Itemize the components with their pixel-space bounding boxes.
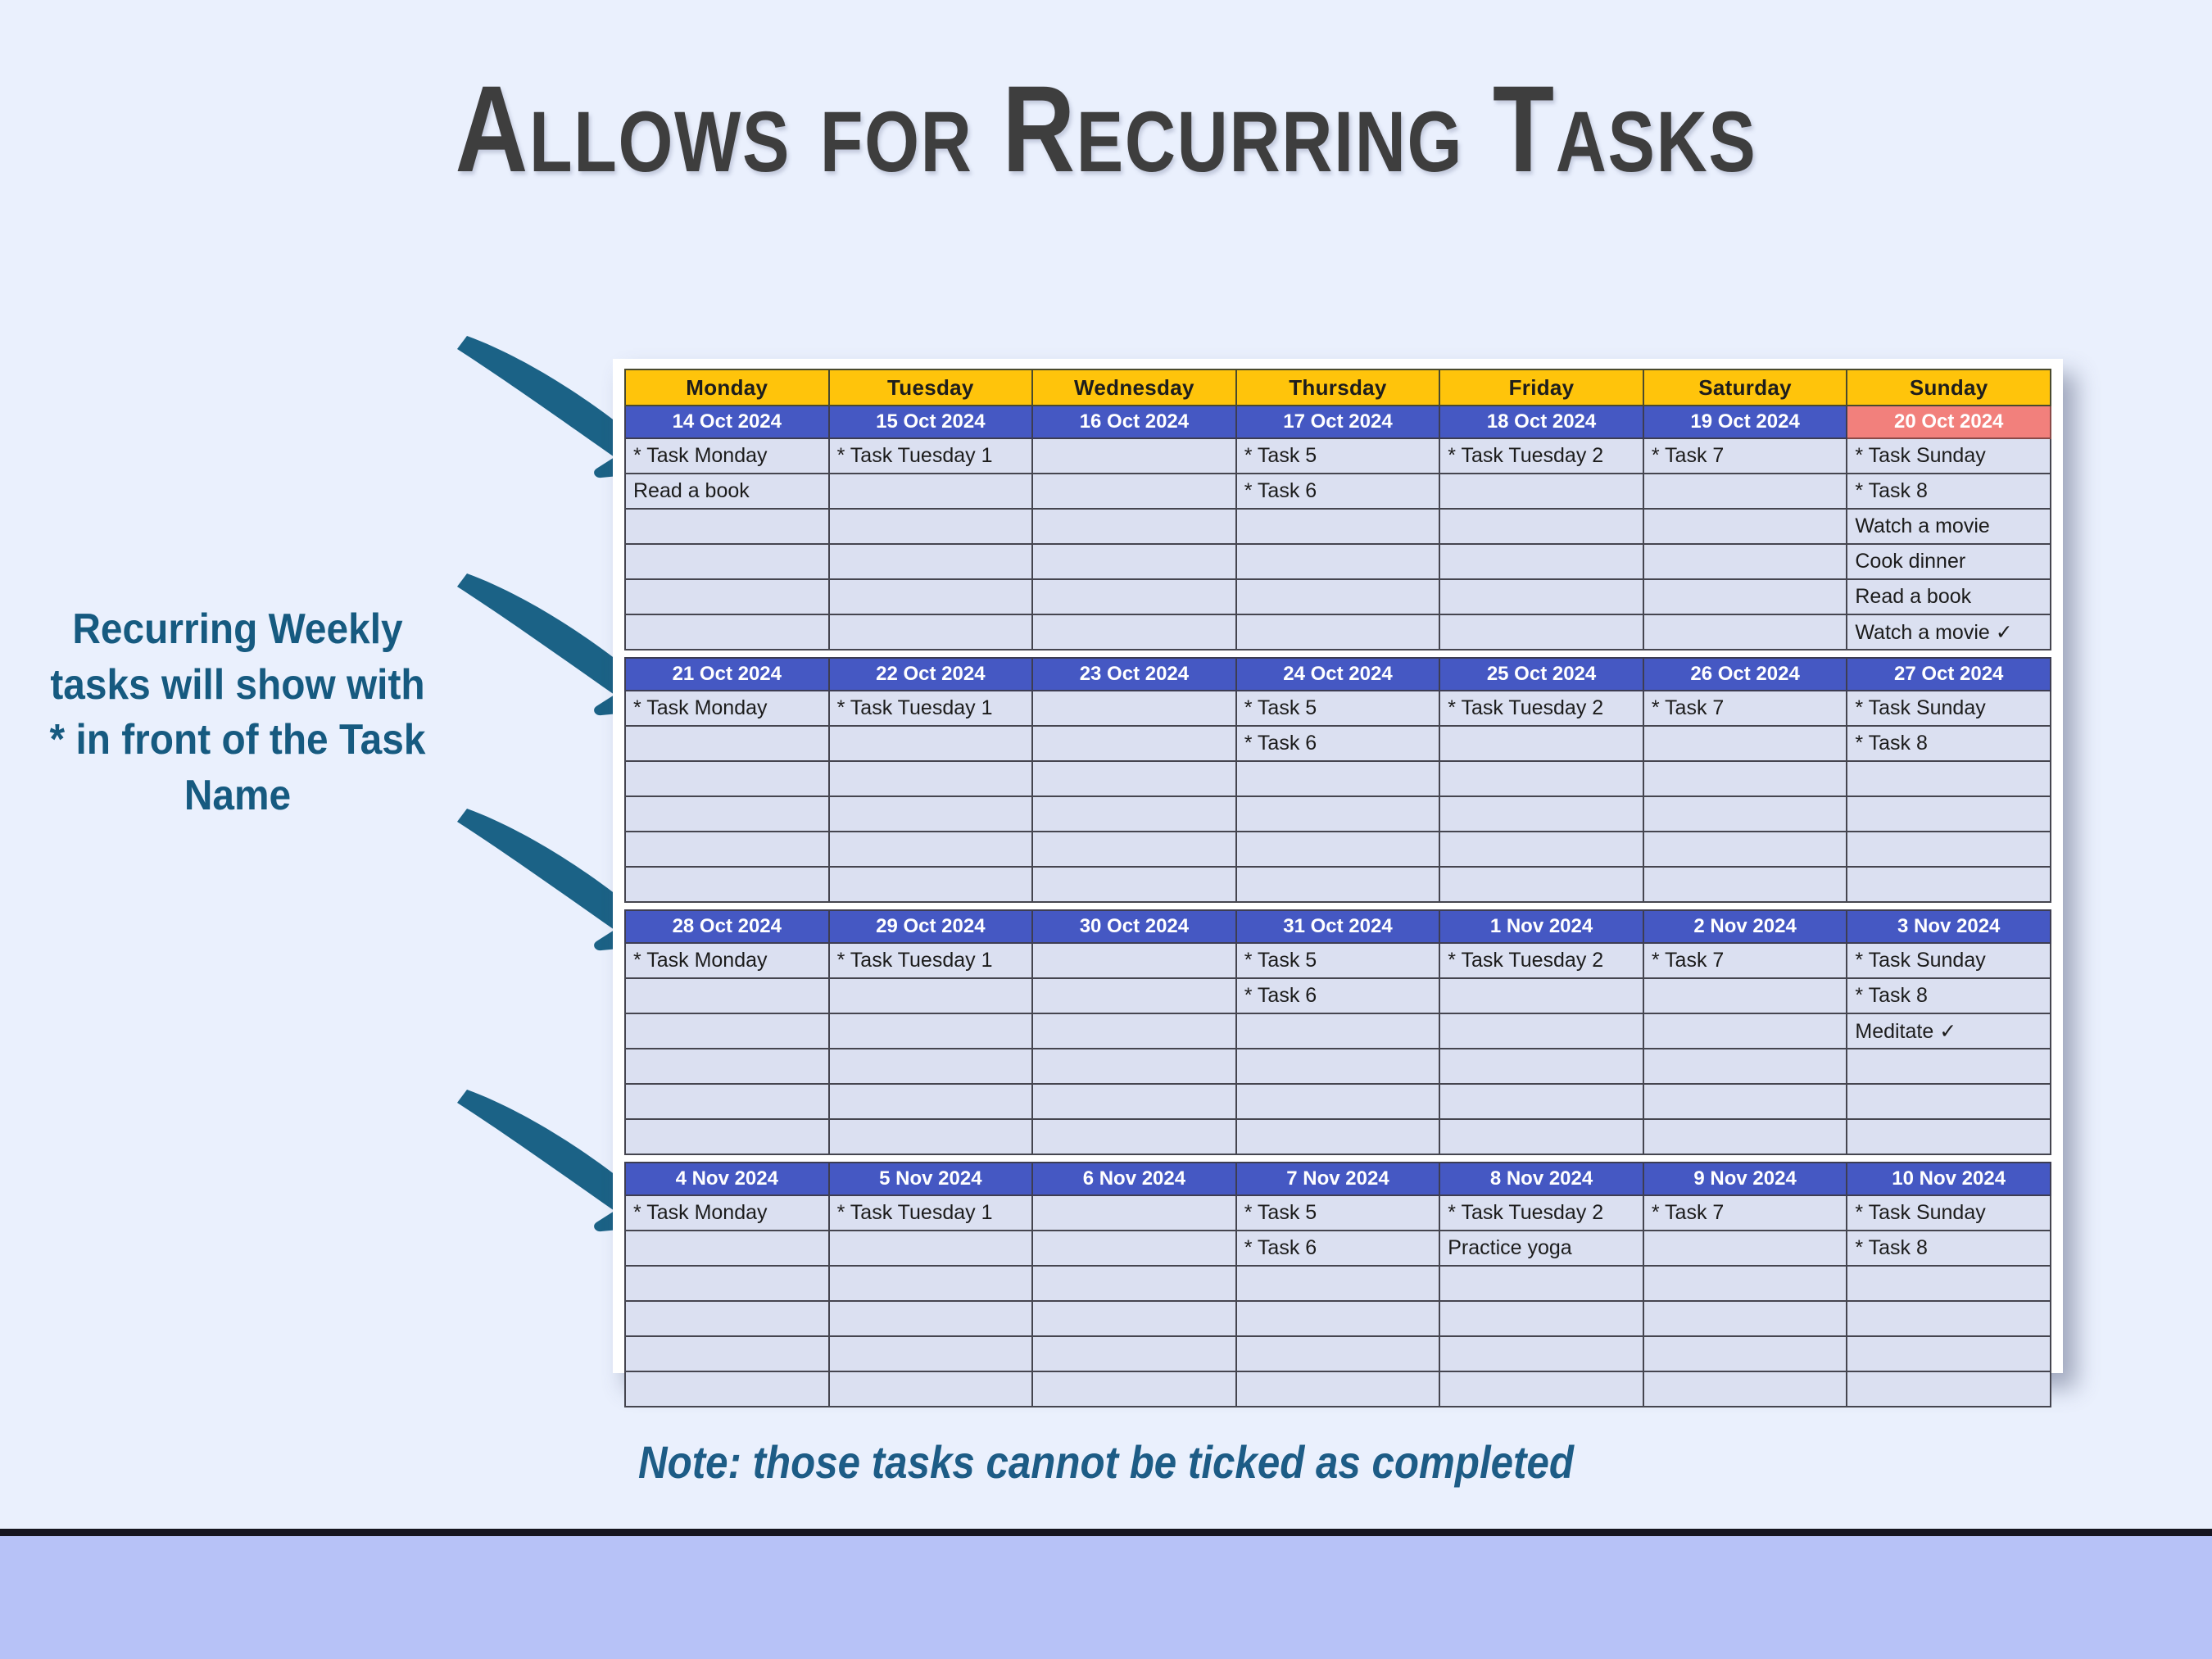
task-cell[interactable]: * Task 5 xyxy=(1236,943,1440,978)
task-cell[interactable] xyxy=(1032,509,1236,544)
task-row: * Task Monday* Task Tuesday 1* Task 5* T… xyxy=(625,1195,2051,1231)
date-cell[interactable]: 26 Oct 2024 xyxy=(1643,658,1847,691)
task-cell[interactable] xyxy=(1032,796,1236,832)
task-cell[interactable] xyxy=(1236,614,1440,650)
date-cell[interactable]: 29 Oct 2024 xyxy=(829,910,1033,943)
task-cell[interactable] xyxy=(625,1119,829,1154)
task-cell[interactable] xyxy=(1439,579,1643,614)
task-cell[interactable]: * Task Tuesday 2 xyxy=(1439,943,1643,978)
task-cell[interactable] xyxy=(1643,1266,1847,1301)
task-cell[interactable] xyxy=(1847,1371,2051,1407)
task-cell[interactable] xyxy=(829,1301,1033,1336)
task-cell[interactable] xyxy=(1439,796,1643,832)
task-cell[interactable] xyxy=(1032,1084,1236,1119)
task-cell[interactable] xyxy=(1439,761,1643,796)
task-cell[interactable] xyxy=(1032,1231,1236,1266)
date-cell[interactable]: 17 Oct 2024 xyxy=(1236,406,1440,438)
task-cell[interactable]: * Task 8 xyxy=(1847,474,2051,509)
task-cell[interactable] xyxy=(1439,1013,1643,1049)
day-header-thursday: Thursday xyxy=(1236,369,1440,406)
task-cell[interactable] xyxy=(829,1013,1033,1049)
task-cell[interactable]: * Task 6 xyxy=(1236,474,1440,509)
task-cell[interactable] xyxy=(829,867,1033,902)
calendar-table: MondayTuesdayWednesdayThursdayFridaySatu… xyxy=(624,369,2051,1407)
task-cell[interactable] xyxy=(1236,832,1440,867)
task-cell[interactable]: * Task Tuesday 1 xyxy=(829,943,1033,978)
task-row: Cook dinner xyxy=(625,544,2051,579)
calendar-header: MondayTuesdayWednesdayThursdayFridaySatu… xyxy=(625,369,2051,406)
task-cell[interactable] xyxy=(1847,1084,2051,1119)
task-cell[interactable] xyxy=(1439,978,1643,1013)
task-row: * Task Monday* Task Tuesday 1* Task 5* T… xyxy=(625,691,2051,726)
task-row xyxy=(625,1301,2051,1336)
task-cell[interactable] xyxy=(829,726,1033,761)
date-cell[interactable]: 14 Oct 2024 xyxy=(625,406,829,438)
task-cell[interactable] xyxy=(1643,867,1847,902)
task-cell[interactable]: * Task 7 xyxy=(1643,1195,1847,1231)
task-cell[interactable]: Meditate ✓ xyxy=(1847,1013,2051,1049)
task-cell[interactable]: * Task 8 xyxy=(1847,726,2051,761)
task-cell[interactable] xyxy=(1439,1049,1643,1084)
date-cell[interactable]: 27 Oct 2024 xyxy=(1847,658,2051,691)
date-cell[interactable]: 3 Nov 2024 xyxy=(1847,910,2051,943)
recurring-task-annotation: Recurring Weekly tasks will show with * … xyxy=(42,602,433,823)
task-row xyxy=(625,1336,2051,1371)
date-cell[interactable]: 4 Nov 2024 xyxy=(625,1163,829,1195)
task-cell[interactable]: * Task 8 xyxy=(1847,978,2051,1013)
task-cell[interactable] xyxy=(1236,1013,1440,1049)
task-cell[interactable] xyxy=(1847,1049,2051,1084)
task-row xyxy=(625,1266,2051,1301)
task-cell[interactable]: Watch a movie xyxy=(1847,509,2051,544)
task-cell[interactable]: * Task 7 xyxy=(1643,438,1847,474)
task-cell[interactable] xyxy=(1032,867,1236,902)
task-cell[interactable] xyxy=(1847,796,2051,832)
task-cell[interactable] xyxy=(1847,1336,2051,1371)
task-cell[interactable] xyxy=(1439,1084,1643,1119)
task-row xyxy=(625,1119,2051,1154)
task-cell[interactable] xyxy=(829,978,1033,1013)
task-cell[interactable]: * Task Monday xyxy=(625,943,829,978)
task-cell[interactable]: * Task 8 xyxy=(1847,1231,2051,1266)
task-cell[interactable] xyxy=(625,1371,829,1407)
task-cell[interactable]: * Task Monday xyxy=(625,1195,829,1231)
date-cell[interactable]: 6 Nov 2024 xyxy=(1032,1163,1236,1195)
task-row: Meditate ✓ xyxy=(625,1013,2051,1049)
task-cell[interactable] xyxy=(1032,1336,1236,1371)
task-cell[interactable]: * Task Monday xyxy=(625,438,829,474)
task-cell[interactable] xyxy=(1439,544,1643,579)
task-row: Watch a movie ✓ xyxy=(625,614,2051,650)
task-cell[interactable]: * Task 7 xyxy=(1643,943,1847,978)
date-cell[interactable]: 25 Oct 2024 xyxy=(1439,658,1643,691)
task-cell[interactable] xyxy=(1032,614,1236,650)
task-cell[interactable] xyxy=(1643,1013,1847,1049)
task-cell[interactable] xyxy=(625,726,829,761)
task-cell[interactable] xyxy=(625,761,829,796)
task-cell[interactable] xyxy=(829,1084,1033,1119)
calendar-card: MondayTuesdayWednesdayThursdayFridaySatu… xyxy=(613,359,2063,1373)
day-name-row: MondayTuesdayWednesdayThursdayFridaySatu… xyxy=(625,369,2051,406)
task-cell[interactable]: * Task 5 xyxy=(1236,691,1440,726)
task-cell[interactable] xyxy=(1236,1084,1440,1119)
task-cell[interactable] xyxy=(625,1336,829,1371)
task-cell[interactable] xyxy=(1236,509,1440,544)
page-title: Allows for Recurring Tasks xyxy=(199,67,2013,190)
task-cell[interactable] xyxy=(625,544,829,579)
task-cell[interactable]: * Task Monday xyxy=(625,691,829,726)
task-cell[interactable]: Cook dinner xyxy=(1847,544,2051,579)
week-spacer-cell xyxy=(625,650,2051,658)
task-cell[interactable]: Read a book xyxy=(625,474,829,509)
task-cell[interactable] xyxy=(829,509,1033,544)
day-header-saturday: Saturday xyxy=(1643,369,1847,406)
task-row: Watch a movie xyxy=(625,509,2051,544)
task-cell[interactable] xyxy=(1643,1336,1847,1371)
task-cell[interactable]: * Task 6 xyxy=(1236,978,1440,1013)
task-cell[interactable] xyxy=(1643,474,1847,509)
task-row: * Task Monday* Task Tuesday 1* Task 5* T… xyxy=(625,438,2051,474)
day-header-monday: Monday xyxy=(625,369,829,406)
task-cell[interactable]: Read a book xyxy=(1847,579,2051,614)
task-cell[interactable] xyxy=(1032,1266,1236,1301)
task-cell[interactable] xyxy=(625,796,829,832)
date-cell[interactable]: 15 Oct 2024 xyxy=(829,406,1033,438)
task-cell[interactable] xyxy=(1236,1119,1440,1154)
task-cell[interactable] xyxy=(1643,614,1847,650)
task-cell[interactable] xyxy=(829,1049,1033,1084)
task-cell[interactable] xyxy=(1032,579,1236,614)
task-cell[interactable]: * Task Sunday xyxy=(1847,1195,2051,1231)
task-cell[interactable]: * Task Sunday xyxy=(1847,691,2051,726)
task-row: Read a book* Task 6* Task 8 xyxy=(625,474,2051,509)
task-cell[interactable] xyxy=(625,978,829,1013)
date-cell[interactable]: 10 Nov 2024 xyxy=(1847,1163,2051,1195)
task-cell[interactable] xyxy=(1643,832,1847,867)
date-cell[interactable]: 21 Oct 2024 xyxy=(625,658,829,691)
date-cell[interactable]: 31 Oct 2024 xyxy=(1236,910,1440,943)
task-cell[interactable] xyxy=(829,832,1033,867)
task-cell[interactable] xyxy=(1236,544,1440,579)
task-cell[interactable]: * Task Sunday xyxy=(1847,943,2051,978)
date-cell[interactable]: 24 Oct 2024 xyxy=(1236,658,1440,691)
task-cell[interactable] xyxy=(625,614,829,650)
task-cell[interactable] xyxy=(1643,1371,1847,1407)
task-cell[interactable] xyxy=(1032,1195,1236,1231)
date-cell[interactable]: 22 Oct 2024 xyxy=(829,658,1033,691)
task-cell[interactable] xyxy=(1439,474,1643,509)
task-cell[interactable] xyxy=(1032,943,1236,978)
date-cell[interactable]: 18 Oct 2024 xyxy=(1439,406,1643,438)
task-cell[interactable]: * Task 6 xyxy=(1236,1231,1440,1266)
task-cell[interactable]: * Task Tuesday 1 xyxy=(829,691,1033,726)
week-spacer-cell xyxy=(625,902,2051,910)
task-cell[interactable] xyxy=(1643,726,1847,761)
task-row xyxy=(625,867,2051,902)
task-row: Read a book xyxy=(625,579,2051,614)
task-cell[interactable] xyxy=(1236,579,1440,614)
week-date-row: 28 Oct 202429 Oct 202430 Oct 202431 Oct … xyxy=(625,910,2051,943)
date-cell[interactable]: 5 Nov 2024 xyxy=(829,1163,1033,1195)
task-row: * Task 6* Task 8 xyxy=(625,726,2051,761)
task-cell[interactable] xyxy=(1032,438,1236,474)
task-cell[interactable] xyxy=(1236,796,1440,832)
task-cell[interactable] xyxy=(1439,614,1643,650)
task-cell[interactable]: Watch a movie ✓ xyxy=(1847,614,2051,650)
date-cell[interactable]: 28 Oct 2024 xyxy=(625,910,829,943)
task-cell[interactable] xyxy=(1643,1301,1847,1336)
task-cell[interactable] xyxy=(829,1119,1033,1154)
task-cell[interactable]: * Task 6 xyxy=(1236,726,1440,761)
task-cell[interactable] xyxy=(1643,796,1847,832)
task-cell[interactable] xyxy=(1847,1266,2051,1301)
task-cell[interactable] xyxy=(1643,1049,1847,1084)
task-cell[interactable] xyxy=(625,579,829,614)
task-cell[interactable] xyxy=(829,796,1033,832)
task-cell[interactable] xyxy=(1032,726,1236,761)
task-cell[interactable] xyxy=(1847,1119,2051,1154)
task-row xyxy=(625,1084,2051,1119)
task-cell[interactable] xyxy=(625,509,829,544)
task-cell[interactable] xyxy=(829,1371,1033,1407)
task-row: * Task 6* Task 8 xyxy=(625,978,2051,1013)
task-row xyxy=(625,1371,2051,1407)
date-cell[interactable]: 8 Nov 2024 xyxy=(1439,1163,1643,1195)
task-cell[interactable] xyxy=(1439,1301,1643,1336)
task-cell[interactable] xyxy=(1236,1371,1440,1407)
task-cell[interactable] xyxy=(1032,1013,1236,1049)
task-cell[interactable] xyxy=(1439,867,1643,902)
date-cell[interactable]: 2 Nov 2024 xyxy=(1643,910,1847,943)
day-header-wednesday: Wednesday xyxy=(1032,369,1236,406)
task-cell[interactable] xyxy=(625,1301,829,1336)
task-cell[interactable] xyxy=(1236,1301,1440,1336)
task-cell[interactable] xyxy=(1032,474,1236,509)
task-cell[interactable] xyxy=(1439,1336,1643,1371)
day-header-friday: Friday xyxy=(1439,369,1643,406)
task-row xyxy=(625,1049,2051,1084)
task-cell[interactable] xyxy=(1032,761,1236,796)
task-cell[interactable] xyxy=(1236,1049,1440,1084)
task-cell[interactable] xyxy=(1847,832,2051,867)
task-cell[interactable] xyxy=(1847,761,2051,796)
task-cell[interactable] xyxy=(829,614,1033,650)
task-cell[interactable] xyxy=(1439,832,1643,867)
task-row: * Task Monday* Task Tuesday 1* Task 5* T… xyxy=(625,943,2051,978)
task-cell[interactable] xyxy=(1032,544,1236,579)
task-cell[interactable] xyxy=(625,832,829,867)
task-cell[interactable] xyxy=(829,1231,1033,1266)
task-cell[interactable] xyxy=(1439,726,1643,761)
week-spacer xyxy=(625,1154,2051,1163)
task-cell[interactable] xyxy=(625,1013,829,1049)
task-row xyxy=(625,796,2051,832)
date-cell[interactable]: 30 Oct 2024 xyxy=(1032,910,1236,943)
task-cell[interactable] xyxy=(1032,978,1236,1013)
task-cell[interactable] xyxy=(1236,1336,1440,1371)
task-cell[interactable]: * Task Tuesday 2 xyxy=(1439,438,1643,474)
task-cell[interactable] xyxy=(625,1084,829,1119)
task-row xyxy=(625,832,2051,867)
task-cell[interactable] xyxy=(1643,1084,1847,1119)
task-cell[interactable]: * Task Tuesday 2 xyxy=(1439,1195,1643,1231)
task-cell[interactable] xyxy=(829,1336,1033,1371)
task-cell[interactable] xyxy=(829,761,1033,796)
task-cell[interactable] xyxy=(1032,691,1236,726)
task-cell[interactable]: * Task 5 xyxy=(1236,438,1440,474)
task-cell[interactable] xyxy=(829,1266,1033,1301)
task-cell[interactable] xyxy=(1439,509,1643,544)
date-cell[interactable]: 9 Nov 2024 xyxy=(1643,1163,1847,1195)
bottom-note: Note: those tasks cannot be ticked as co… xyxy=(133,1435,2079,1489)
task-cell[interactable]: * Task 5 xyxy=(1236,1195,1440,1231)
task-cell[interactable] xyxy=(1032,832,1236,867)
task-cell[interactable] xyxy=(1236,867,1440,902)
task-row: * Task 6Practice yoga* Task 8 xyxy=(625,1231,2051,1266)
week-date-row: 4 Nov 20245 Nov 20246 Nov 20247 Nov 2024… xyxy=(625,1163,2051,1195)
task-cell[interactable] xyxy=(829,474,1033,509)
task-cell[interactable]: * Task 7 xyxy=(1643,691,1847,726)
date-cell[interactable]: 16 Oct 2024 xyxy=(1032,406,1236,438)
task-cell[interactable] xyxy=(1643,1119,1847,1154)
date-cell[interactable]: 7 Nov 2024 xyxy=(1236,1163,1440,1195)
week-spacer xyxy=(625,902,2051,910)
task-cell[interactable] xyxy=(1236,1266,1440,1301)
task-cell[interactable] xyxy=(1643,509,1847,544)
task-cell[interactable] xyxy=(1643,579,1847,614)
date-cell[interactable]: 1 Nov 2024 xyxy=(1439,910,1643,943)
task-cell[interactable] xyxy=(625,1231,829,1266)
date-cell[interactable]: 19 Oct 2024 xyxy=(1643,406,1847,438)
task-row xyxy=(625,761,2051,796)
calendar-body: 14 Oct 202415 Oct 202416 Oct 202417 Oct … xyxy=(625,406,2051,1407)
day-header-sunday: Sunday xyxy=(1847,369,2051,406)
bottom-divider xyxy=(0,1529,2212,1536)
task-cell[interactable] xyxy=(1439,1266,1643,1301)
task-cell[interactable] xyxy=(1643,761,1847,796)
date-cell-today[interactable]: 20 Oct 2024 xyxy=(1847,406,2051,438)
task-cell[interactable] xyxy=(625,867,829,902)
task-cell[interactable] xyxy=(1439,1119,1643,1154)
date-cell[interactable]: 23 Oct 2024 xyxy=(1032,658,1236,691)
week-spacer xyxy=(625,650,2051,658)
task-cell[interactable]: * Task Tuesday 1 xyxy=(829,1195,1033,1231)
task-cell[interactable] xyxy=(1236,761,1440,796)
task-cell[interactable]: * Task Tuesday 1 xyxy=(829,438,1033,474)
task-cell[interactable] xyxy=(1032,1119,1236,1154)
task-cell[interactable] xyxy=(1847,1301,2051,1336)
task-cell[interactable] xyxy=(1643,1231,1847,1266)
task-cell[interactable] xyxy=(1032,1371,1236,1407)
task-cell[interactable] xyxy=(1032,1301,1236,1336)
task-cell[interactable]: * Task Sunday xyxy=(1847,438,2051,474)
task-cell[interactable] xyxy=(1032,1049,1236,1084)
task-cell[interactable] xyxy=(1643,544,1847,579)
task-cell[interactable] xyxy=(625,1049,829,1084)
task-cell[interactable]: * Task Tuesday 2 xyxy=(1439,691,1643,726)
week-spacer-cell xyxy=(625,1154,2051,1163)
task-cell[interactable]: Practice yoga xyxy=(1439,1231,1643,1266)
task-cell[interactable] xyxy=(829,544,1033,579)
task-cell[interactable] xyxy=(829,579,1033,614)
day-header-tuesday: Tuesday xyxy=(829,369,1033,406)
task-cell[interactable] xyxy=(1439,1371,1643,1407)
task-cell[interactable] xyxy=(1847,867,2051,902)
week-date-row: 14 Oct 202415 Oct 202416 Oct 202417 Oct … xyxy=(625,406,2051,438)
task-cell[interactable] xyxy=(1643,978,1847,1013)
week-date-row: 21 Oct 202422 Oct 202423 Oct 202424 Oct … xyxy=(625,658,2051,691)
bottom-band xyxy=(0,1536,2212,1659)
task-cell[interactable] xyxy=(625,1266,829,1301)
